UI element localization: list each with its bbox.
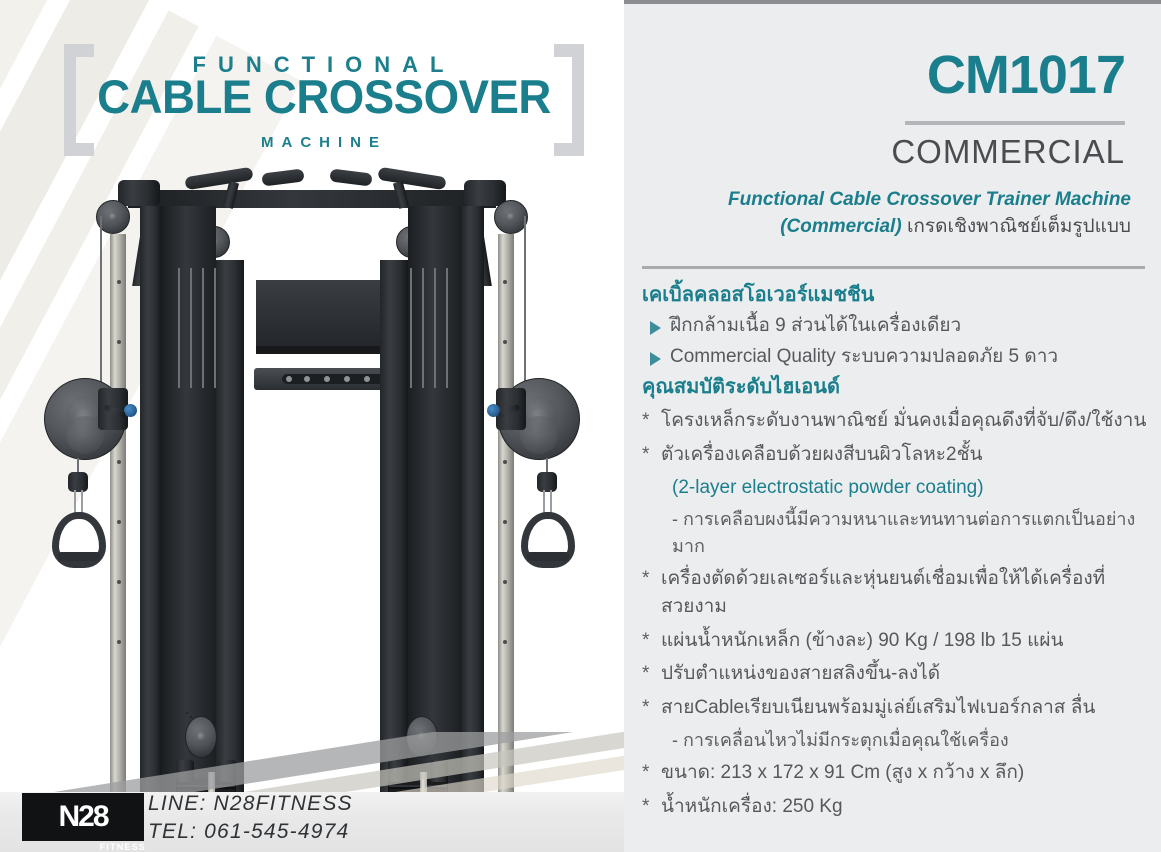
section-heading-1: เคเบิ้ลคลอสโอเวอร์แมชชีน xyxy=(642,281,1152,310)
product-photo xyxy=(0,160,624,820)
feature-sub-english: (2-layer electrostatic powder coating) xyxy=(672,474,1152,503)
specification-list: เคเบิ้ลคลอสโอเวอร์แมชชีน ฝึกกล้ามเนื้อ 9… xyxy=(642,281,1152,826)
arrow-right-icon xyxy=(650,321,661,335)
spec-panel: CM1017 COMMERCIAL Functional Cable Cross… xyxy=(624,0,1161,852)
model-divider xyxy=(905,121,1125,125)
feature-label: น้ำหนักเครื่อง: 250 Kg xyxy=(661,793,843,822)
tagline-en-line2: (Commercial) xyxy=(780,216,901,237)
feature-label: ตัวเครื่องเคลือบด้วยผงสีบนผิวโลหะ2ชั้น xyxy=(661,441,982,470)
list-item: * แผ่นน้ำหนักเหล็ก (ข้างละ) 90 Kg / 198 … xyxy=(642,627,1152,656)
feature-label: สายCableเรียบเนียนพร้อมมู่เล่ย์เสริมไฟเบ… xyxy=(661,694,1095,723)
logo-mark: N28 xyxy=(58,802,107,832)
arrow-right-icon xyxy=(650,352,661,366)
feature-sub-note: - การเคลื่อนไหวไม่มีกระตุกเมื่อคุณใช้เคร… xyxy=(672,727,1152,754)
feature-label: แผ่นน้ำหนักเหล็ก (ข้างละ) 90 Kg / 198 lb… xyxy=(661,627,1064,656)
feature-label: โครงเหล็กระดับงานพาณิชย์ มั่นคงเมื่อคุณด… xyxy=(661,407,1146,436)
product-tagline: Functional Cable Crossover Trainer Machi… xyxy=(644,187,1131,241)
asterisk-icon: * xyxy=(642,627,653,656)
list-item: * น้ำหนักเครื่อง: 250 Kg xyxy=(642,793,1152,822)
list-item: ฝึกกล้ามเนื้อ 9 ส่วนได้ในเครื่องเดียว xyxy=(650,312,1152,341)
contact-line-text: LINE: N28FITNESS xyxy=(148,790,478,818)
asterisk-icon: * xyxy=(642,407,653,436)
feature-label: ปรับตำแหน่งของสายสลิงขึ้น-ลงได้ xyxy=(661,660,940,689)
list-item: Commercial Quality ระบบความปลอดภัย 5 ดาว xyxy=(650,343,1152,372)
hero-subkicker: MACHINE xyxy=(98,134,550,151)
asterisk-icon: * xyxy=(642,694,653,723)
asterisk-icon: * xyxy=(642,565,653,594)
tagline-th: เกรดเชิงพาณิชย์เต็มรูปแบบ xyxy=(907,216,1131,237)
asterisk-icon: * xyxy=(642,759,653,788)
feature-label: ขนาด: 213 x 172 x 91 Cm (สูง x กว้าง x ล… xyxy=(661,759,1024,788)
model-number: CM1017 xyxy=(927,48,1125,102)
contact-block: LINE: N28FITNESS TEL: 061-545-4974 xyxy=(148,790,478,847)
arrow-item-label: ฝึกกล้ามเนื้อ 9 ส่วนได้ในเครื่องเดียว xyxy=(670,312,961,341)
asterisk-icon: * xyxy=(642,660,653,689)
contact-tel-text: TEL: 061-545-4974 xyxy=(148,818,478,846)
section-heading-2: คุณสมบัติระดับไฮเอนด์ xyxy=(642,373,1152,402)
list-item: * ปรับตำแหน่งของสายสลิงขึ้น-ลงได้ xyxy=(642,660,1152,689)
asterisk-icon: * xyxy=(642,793,653,822)
advertisement-canvas: FUNCTIONAL CABLE CROSSOVER MACHINE xyxy=(0,0,1161,852)
list-item: * ขนาด: 213 x 172 x 91 Cm (สูง x กว้าง x… xyxy=(642,759,1152,788)
hero-title-lockup: FUNCTIONAL CABLE CROSSOVER MACHINE xyxy=(64,44,584,164)
asterisk-icon: * xyxy=(642,441,653,470)
arrow-item-label: Commercial Quality ระบบความปลอดภัย 5 ดาว xyxy=(670,343,1058,372)
panel-divider xyxy=(642,266,1145,269)
list-item: * สายCableเรียบเนียนพร้อมมู่เล่ย์เสริมไฟ… xyxy=(642,694,1152,723)
hero-title: CABLE CROSSOVER xyxy=(91,73,557,121)
list-item: * โครงเหล็กระดับงานพาณิชย์ มั่นคงเมื่อคุ… xyxy=(642,407,1152,436)
model-category: COMMERCIAL xyxy=(891,134,1125,170)
list-item: * เครื่องตัดด้วยเลเซอร์และหุ่นยนต์เชื่อม… xyxy=(642,565,1152,622)
feature-label: เครื่องตัดด้วยเลเซอร์และหุ่นยนต์เชื่อมเพ… xyxy=(661,565,1152,622)
product-hero-pane: FUNCTIONAL CABLE CROSSOVER MACHINE xyxy=(0,0,624,852)
list-item: * ตัวเครื่องเคลือบด้วยผงสีบนผิวโลหะ2ชั้น xyxy=(642,441,1152,470)
feature-sub-note: - การเคลือบผงนี้มีความหนาและทนทานต่อการแ… xyxy=(672,506,1152,560)
brand-logo: N28 FITNESS xyxy=(22,793,144,841)
logo-subtext: FITNESS xyxy=(100,842,146,852)
tagline-en-line1: Functional Cable Crossover Trainer Machi… xyxy=(728,189,1131,210)
